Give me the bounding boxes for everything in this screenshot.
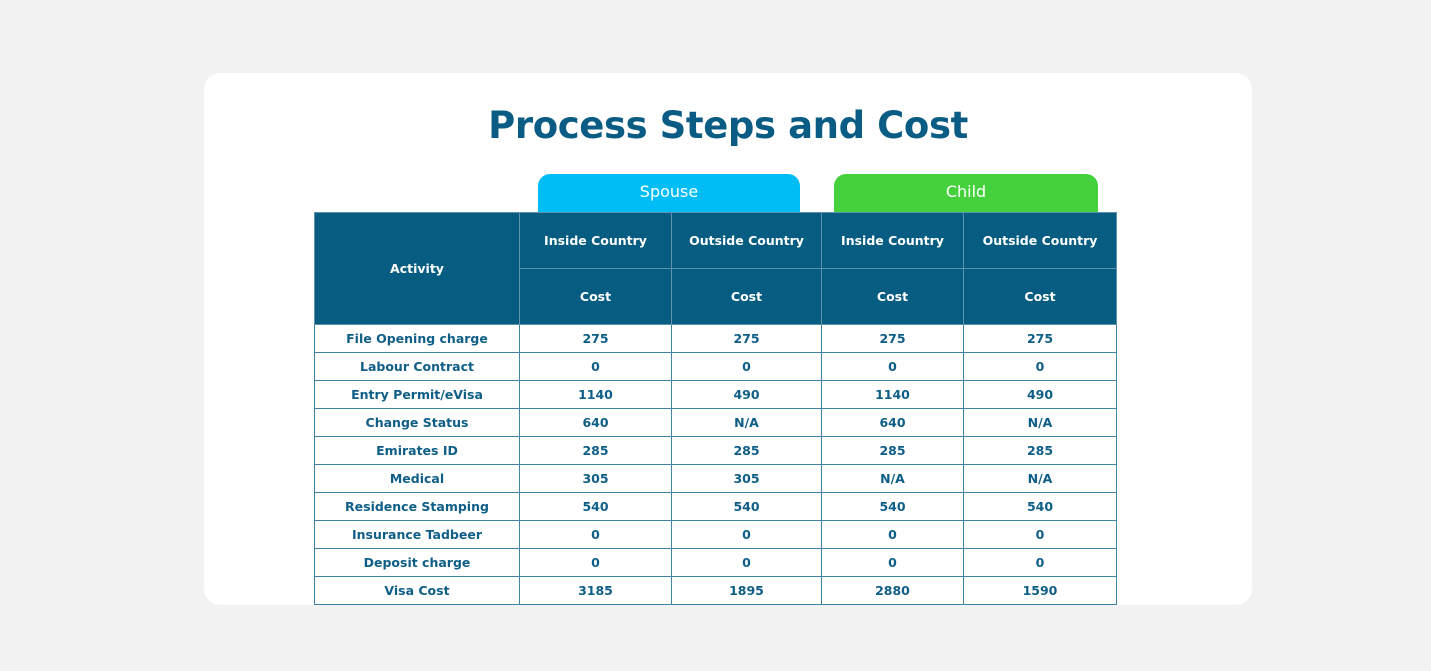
row-cost-cell: 285	[672, 437, 822, 465]
row-cost-cell: 285	[964, 437, 1117, 465]
row-cost-cell: 0	[672, 353, 822, 381]
content-card: Process Steps and Cost Spouse Child Acti…	[204, 73, 1252, 605]
cost-table-container: Activity Inside Country Outside Country …	[314, 212, 1116, 605]
page-title: Process Steps and Cost	[204, 104, 1252, 147]
row-cost-cell: 275	[964, 325, 1117, 353]
tab-spouse-label: Spouse	[640, 182, 698, 201]
row-cost-cell: 1895	[672, 577, 822, 605]
row-cost-cell: 0	[822, 521, 964, 549]
row-activity-label: Residence Stamping	[315, 493, 520, 521]
row-cost-cell: 3185	[520, 577, 672, 605]
table-row: File Opening charge275275275275	[315, 325, 1117, 353]
row-cost-cell: 540	[964, 493, 1117, 521]
tab-spouse[interactable]: Spouse	[538, 174, 800, 214]
row-cost-cell: 640	[822, 409, 964, 437]
row-activity-label: Medical	[315, 465, 520, 493]
row-activity-label: Change Status	[315, 409, 520, 437]
column-header-spouse-outside-country: Outside Country	[672, 213, 822, 269]
row-cost-cell: N/A	[822, 465, 964, 493]
row-activity-label: Deposit charge	[315, 549, 520, 577]
process-steps-cost-table: Activity Inside Country Outside Country …	[314, 212, 1117, 605]
row-cost-cell: 0	[520, 353, 672, 381]
row-cost-cell: 1140	[822, 381, 964, 409]
row-cost-cell: 0	[672, 549, 822, 577]
table-row: Residence Stamping540540540540	[315, 493, 1117, 521]
row-cost-cell: N/A	[672, 409, 822, 437]
row-activity-label: Labour Contract	[315, 353, 520, 381]
row-activity-label: Entry Permit/eVisa	[315, 381, 520, 409]
row-cost-cell: 2880	[822, 577, 964, 605]
row-cost-cell: 275	[822, 325, 964, 353]
table-row: Visa Cost3185189528801590	[315, 577, 1117, 605]
row-activity-label: Emirates ID	[315, 437, 520, 465]
row-cost-cell: 0	[520, 521, 672, 549]
table-header-group-row: Activity Inside Country Outside Country …	[315, 213, 1117, 269]
row-cost-cell: 540	[822, 493, 964, 521]
subcolumn-header-child-inside-cost: Cost	[822, 269, 964, 325]
table-row: Change Status640N/A640N/A	[315, 409, 1117, 437]
table-row: Medical305305N/AN/A	[315, 465, 1117, 493]
row-cost-cell: 285	[822, 437, 964, 465]
row-cost-cell: 275	[520, 325, 672, 353]
row-cost-cell: 0	[822, 549, 964, 577]
row-cost-cell: 540	[520, 493, 672, 521]
table-body: File Opening charge275275275275Labour Co…	[315, 325, 1117, 605]
table-header: Activity Inside Country Outside Country …	[315, 213, 1117, 325]
subcolumn-header-spouse-outside-cost: Cost	[672, 269, 822, 325]
tab-child-label: Child	[946, 182, 986, 201]
table-row: Deposit charge0000	[315, 549, 1117, 577]
row-cost-cell: 0	[964, 521, 1117, 549]
row-cost-cell: N/A	[964, 465, 1117, 493]
row-cost-cell: N/A	[964, 409, 1117, 437]
row-cost-cell: 305	[672, 465, 822, 493]
column-header-spouse-inside-country: Inside Country	[520, 213, 672, 269]
row-cost-cell: 305	[520, 465, 672, 493]
table-row: Emirates ID285285285285	[315, 437, 1117, 465]
row-cost-cell: 1140	[520, 381, 672, 409]
column-header-child-inside-country: Inside Country	[822, 213, 964, 269]
row-cost-cell: 0	[672, 521, 822, 549]
row-cost-cell: 540	[672, 493, 822, 521]
column-header-activity: Activity	[315, 213, 520, 325]
table-row: Entry Permit/eVisa11404901140490	[315, 381, 1117, 409]
subcolumn-header-child-outside-cost: Cost	[964, 269, 1117, 325]
tab-child[interactable]: Child	[834, 174, 1098, 214]
column-header-child-outside-country: Outside Country	[964, 213, 1117, 269]
table-row: Insurance Tadbeer0000	[315, 521, 1117, 549]
row-activity-label: Visa Cost	[315, 577, 520, 605]
row-cost-cell: 0	[964, 353, 1117, 381]
row-cost-cell: 285	[520, 437, 672, 465]
row-cost-cell: 1590	[964, 577, 1117, 605]
row-cost-cell: 0	[964, 549, 1117, 577]
row-cost-cell: 0	[822, 353, 964, 381]
row-activity-label: File Opening charge	[315, 325, 520, 353]
row-cost-cell: 490	[964, 381, 1117, 409]
row-cost-cell: 640	[520, 409, 672, 437]
subcolumn-header-spouse-inside-cost: Cost	[520, 269, 672, 325]
table-row: Labour Contract0000	[315, 353, 1117, 381]
row-cost-cell: 0	[520, 549, 672, 577]
row-cost-cell: 275	[672, 325, 822, 353]
row-cost-cell: 490	[672, 381, 822, 409]
row-activity-label: Insurance Tadbeer	[315, 521, 520, 549]
